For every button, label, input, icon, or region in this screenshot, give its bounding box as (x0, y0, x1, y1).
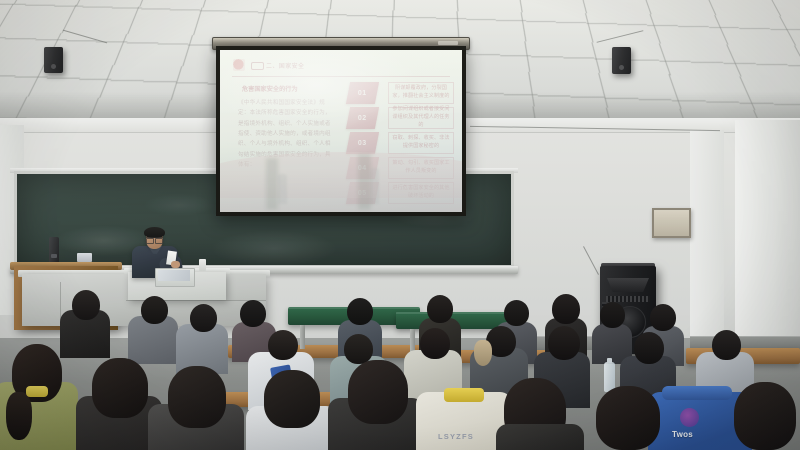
slide-header-tag-icon (251, 62, 264, 70)
person-head (734, 382, 796, 450)
slide-item-text-box: 参加间谍组织或者接受间谍组织及其代理人的任务的 (388, 107, 454, 129)
person-head (596, 386, 660, 450)
slide-item-text: 参加间谍组织或者接受间谍组织及其代理人的任务的 (391, 106, 451, 130)
person-head (168, 366, 226, 428)
person-head (712, 330, 741, 360)
wall-speaker-left-icon (44, 47, 63, 73)
desk-leg (300, 325, 305, 349)
slide-body-title: 危害国家安全的行为 (242, 86, 330, 94)
slide-item-text-box: 阴谋颠覆政府，分裂国家，推翻社会主义制度的 (388, 82, 454, 104)
jacket-hood (444, 388, 484, 402)
slide-item-number: 01 (346, 82, 379, 104)
person-head (427, 295, 453, 323)
person-head (548, 326, 580, 360)
wall-pillar-mid-right (690, 130, 724, 345)
slide-item-number-label: 03 (358, 140, 367, 147)
person-head (348, 360, 408, 424)
wall-speaker-right-icon (612, 47, 631, 74)
slide-footer-silhouette (278, 174, 287, 204)
person-head (634, 332, 664, 364)
ponytail (6, 392, 32, 440)
person-head (141, 296, 168, 324)
hair-tie (26, 386, 48, 397)
hoodie-logo-text: Twos (672, 430, 693, 439)
slide-item-number-label: 02 (358, 115, 367, 122)
cup (199, 259, 206, 271)
hoodie-logo-graphic (680, 408, 699, 427)
party-emblem-icon (233, 59, 245, 71)
slide-item-number: 03 (346, 132, 379, 154)
floor-speaker-horn (607, 278, 649, 292)
person-head (420, 328, 450, 359)
person-head (72, 290, 100, 320)
person-head (344, 334, 373, 364)
presenter-hand (171, 261, 180, 268)
lecture-hall-photo: 二、国家安全 危害国家安全的行为 《中华人民共和国国家安全法》规定：本法所称危害… (0, 0, 800, 450)
slide-header-rule (232, 60, 450, 77)
slide-item-text: 阴谋颠覆政府，分裂国家，推翻社会主义制度的 (391, 85, 451, 101)
screen-reflection (358, 154, 371, 210)
slide-item-number: 02 (346, 107, 379, 129)
jacket-logo-text: LSYZFS (438, 432, 474, 441)
slide-footer-arc (220, 152, 462, 198)
slide-item-text: 窃取、刺探、收买、非法提供国家秘密的 (391, 135, 451, 151)
presentation-slide: 二、国家安全 危害国家安全的行为 《中华人民共和国国家安全法》规定：本法所称危害… (220, 50, 462, 212)
person-head (190, 304, 217, 332)
projection-screen: 二、国家安全 危害国家安全的行为 《中华人民共和国国家安全法》规定：本法所称危害… (220, 50, 462, 212)
slide-footer-silhouette (370, 168, 379, 204)
person-head (600, 302, 625, 328)
person-torso (496, 424, 584, 450)
slide-item-number-label: 01 (358, 90, 367, 97)
electrical-panel (652, 208, 691, 238)
hoodie-collar (662, 386, 732, 400)
person-head (268, 330, 298, 360)
person-head (650, 304, 676, 331)
hair-scrunchie (474, 340, 492, 366)
person-head (240, 300, 266, 327)
eyeglasses-icon (146, 237, 163, 242)
slide-header-title: 二、国家安全 (266, 61, 304, 70)
person-head (504, 300, 529, 326)
person-head (92, 358, 148, 418)
person-head (264, 370, 320, 428)
wall-pillar-right (735, 120, 800, 350)
slide-item-text-box: 窃取、刺探、收买、非法提供国家秘密的 (388, 132, 454, 154)
roller-brand-badge (438, 41, 458, 45)
microphone-icon (49, 237, 59, 264)
screen-reflection (266, 158, 278, 210)
person-head (552, 294, 580, 324)
podium-small-box (77, 253, 92, 262)
laptop-screen (158, 270, 190, 281)
person-head (347, 298, 373, 325)
